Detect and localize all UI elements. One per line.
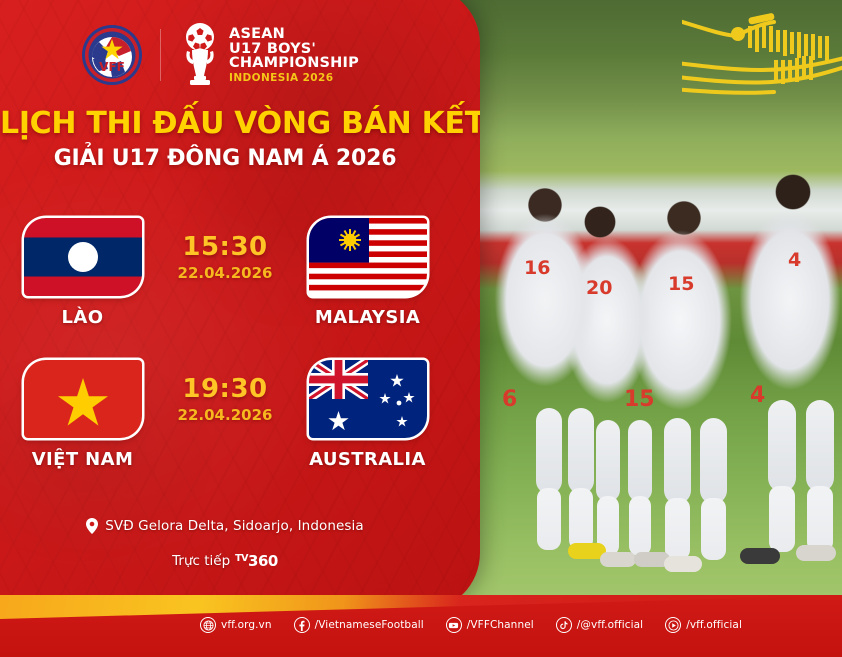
asean-championship-logo: ASEAN U17 BOYS' CHAMPIONSHIP INDONESIA 2… [178, 22, 359, 88]
svg-text:4: 4 [750, 383, 765, 408]
player-sock [629, 496, 651, 556]
svg-text:15: 15 [624, 387, 655, 412]
player-sock [569, 488, 593, 550]
vietnam-flag [24, 360, 142, 438]
malaysia-flag [309, 218, 427, 296]
trophy-icon [178, 22, 222, 88]
team-name: LÀO [62, 307, 104, 328]
social-label: vff.org.vn [221, 619, 272, 631]
asean-line-2: U17 BOYS' [229, 42, 359, 57]
player-sock [665, 498, 690, 560]
tv360-number: 360 [248, 552, 278, 570]
match-row: VIỆT NAM 19:30 22.04.2026 [0, 360, 450, 488]
social-link-facebook[interactable]: /VietnameseFootball [294, 617, 424, 633]
australia-flag [309, 360, 427, 438]
svg-text:4: 4 [788, 249, 801, 271]
tv360-prefix: TV [235, 553, 248, 564]
player-shoe [600, 552, 636, 567]
social-link-tiktok[interactable]: /@vff.official [556, 617, 643, 633]
youtube-icon [446, 617, 462, 633]
logo-divider [160, 29, 161, 81]
tiktok-icon [556, 617, 572, 633]
match-time-block: 19:30 22.04.2026 [163, 360, 288, 424]
player-shoe [740, 548, 780, 564]
player-shoe [664, 556, 702, 572]
social-label: /@vff.official [577, 619, 643, 631]
red-info-panel: VFF [0, 0, 480, 611]
team-name: AUSTRALIA [309, 449, 426, 470]
match-date: 22.04.2026 [163, 264, 288, 282]
vff-crest-logo: VFF [81, 24, 143, 86]
player-sock [701, 498, 726, 560]
team-name: MALAYSIA [315, 307, 420, 328]
venue-text: SVĐ Gelora Delta, Sidoarjo, Indonesia [105, 518, 364, 534]
asean-logo-text: ASEAN U17 BOYS' CHAMPIONSHIP INDONESIA 2… [229, 27, 359, 83]
away-team: AUSTRALIA [288, 360, 448, 470]
team-name: VIỆT NAM [32, 449, 134, 470]
player-sock [807, 486, 833, 552]
play-icon [665, 617, 681, 633]
home-team: VIỆT NAM [3, 360, 163, 470]
asean-line-3: CHAMPIONSHIP [229, 56, 359, 71]
match-time: 15:30 [163, 232, 288, 262]
home-team: LÀO [3, 218, 163, 328]
asean-line-1: ASEAN [229, 27, 359, 42]
title-block: LỊCH THI ĐẤU VÒNG BÁN KẾT GIẢI U17 ĐÔNG … [0, 106, 450, 171]
social-link-play[interactable]: /vff.official [665, 617, 742, 633]
gold-crane-ornament-top [682, 0, 842, 120]
asean-line-4: INDONESIA 2026 [229, 73, 359, 84]
page-subtitle: GIẢI U17 ĐÔNG NAM Á 2026 [0, 146, 450, 171]
player-sock [537, 488, 561, 550]
svg-text:16: 16 [524, 257, 550, 279]
footer-stripe-gold [0, 595, 842, 619]
venue-row: SVĐ Gelora Delta, Sidoarjo, Indonesia [0, 518, 450, 534]
laos-flag [24, 218, 142, 296]
footer-bar: vff.org.vn /VietnameseFootball /VFFChann… [0, 595, 842, 657]
player-sock [769, 486, 795, 552]
panel-content: VFF [0, 0, 480, 611]
away-team: MALAYSIA [288, 218, 448, 328]
svg-text:20: 20 [586, 277, 612, 299]
page-title: LỊCH THI ĐẤU VÒNG BÁN KẾT [0, 106, 450, 141]
svg-text:6: 6 [502, 387, 517, 412]
match-date: 22.04.2026 [163, 406, 288, 424]
globe-icon [200, 617, 216, 633]
social-label: /vff.official [686, 619, 742, 631]
social-label: /VietnameseFootball [315, 619, 424, 631]
broadcast-label: Trực tiếp [172, 553, 230, 569]
social-link-website[interactable]: vff.org.vn [200, 617, 272, 633]
facebook-icon [294, 617, 310, 633]
match-row: LÀO 15:30 22.04.2026 [0, 218, 450, 346]
tv360-logo: TV 360 [235, 552, 278, 570]
broadcast-row: Trực tiếp TV 360 [0, 552, 450, 570]
svg-text:15: 15 [668, 273, 694, 295]
social-links: vff.org.vn /VietnameseFootball /VFFChann… [200, 617, 742, 633]
match-time: 19:30 [163, 374, 288, 404]
social-link-youtube[interactable]: /VFFChannel [446, 617, 534, 633]
player-shirt-numbers: 16 20 15 4 6 15 4 [500, 240, 840, 440]
logo-bar: VFF [0, 14, 440, 96]
location-pin-icon [86, 518, 98, 534]
player-shoe [796, 545, 836, 561]
match-time-block: 15:30 22.04.2026 [163, 218, 288, 282]
vff-logo-text: VFF [99, 60, 125, 74]
social-label: /VFFChannel [467, 619, 534, 631]
